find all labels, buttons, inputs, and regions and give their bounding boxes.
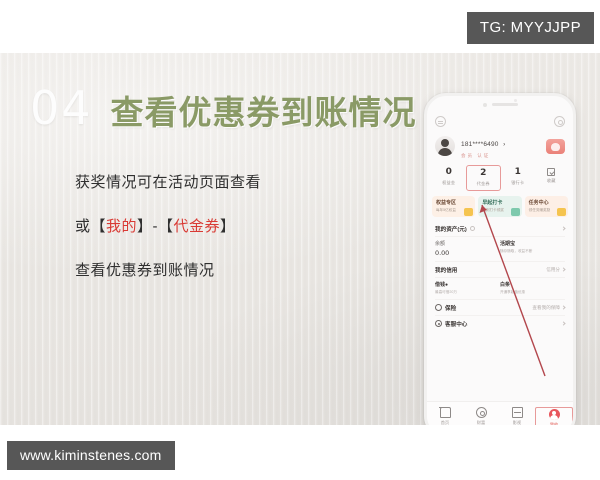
quick-card-morning-checkin[interactable]: 早起打卡 立刻打卡领奖 — [478, 196, 521, 217]
stat-value: 1 — [501, 168, 535, 178]
credit-pair-row: 借钱● 最高可借20万 白条 开通享超值优惠 — [435, 278, 565, 300]
quick-cards-row: 权益专区 每年5亿权益 早起打卡 立刻打卡领奖 任务中心 领任务赚奖励 — [427, 195, 573, 221]
borrow-label-text: 借钱 — [435, 282, 445, 288]
profile-icon — [549, 409, 560, 420]
step-number: 04 — [30, 85, 93, 131]
insurance-left: 保险 — [435, 304, 456, 312]
balance-value: 0.00 — [435, 249, 500, 257]
member-badge-icon[interactable] — [546, 139, 565, 154]
body-line-2-prefix: 或【 — [75, 218, 106, 235]
stat-label: 代金券 — [467, 181, 501, 187]
nav-item-video[interactable]: 影视 — [499, 407, 535, 425]
stat-item-bankcard[interactable]: 1 银行卡 — [501, 165, 535, 191]
credit-score-label: 信用分 — [546, 267, 560, 273]
quick-card-task-center[interactable]: 任务中心 领任务赚奖励 — [525, 196, 568, 217]
headline: 04 查看优惠券到账情况 — [30, 85, 417, 131]
quick-card-title: 权益专区 — [436, 199, 472, 206]
stat-item-voucher[interactable]: 2 代金券 — [466, 165, 502, 191]
profile-text: 181****6490 › 会员 认证 — [461, 133, 540, 159]
credit-header-left: 我的信用 — [435, 266, 457, 274]
borrow-label: 借钱● — [435, 281, 500, 288]
service-center-title: 客服中心 — [445, 320, 467, 328]
quick-card-equity-zone[interactable]: 权益专区 每年5亿权益 — [432, 196, 475, 217]
body-line-2-mid: 】-【 — [137, 218, 174, 235]
info-icon[interactable] — [470, 226, 475, 231]
screenshot-root: TG: MYYJJPP www.kiminstenes.com 04 查看优惠券… — [0, 0, 600, 480]
insurance-right-label: 查看我的保障 — [532, 305, 560, 311]
nav-label: 影视 — [499, 420, 535, 425]
body-line-2-highlight-mine: 我的 — [106, 218, 137, 235]
body-line-1: 获奖情况可在活动页面查看 — [75, 175, 261, 190]
quick-card-title: 早起打卡 — [482, 199, 518, 206]
credit-header-row[interactable]: 我的信用 信用分 — [435, 262, 565, 278]
tg-handle-badge: TG: MYYJJPP — [467, 12, 594, 44]
stat-item-equity[interactable]: 0 权益金 — [432, 165, 466, 191]
app-topbar — [427, 113, 573, 130]
insurance-right: 查看我的保障 — [532, 305, 565, 311]
stats-row: 0 权益金 2 代金券 1 银行卡 收藏 — [427, 161, 573, 195]
assets-pair-row: 余额 0.00 活期宝 随存随取，收益不断 — [435, 237, 565, 262]
headset-icon — [435, 320, 442, 327]
credit-header-right: 信用分 — [546, 267, 565, 273]
current-treasure-label: 活期宝 — [500, 240, 565, 247]
credit-borrow-cell[interactable]: 借钱● 最高可借20万 — [435, 281, 500, 295]
assets-title: 我的资产(元) — [435, 225, 467, 233]
borrow-sub: 最高可借20万 — [435, 290, 500, 295]
stat-label: 权益金 — [432, 180, 466, 186]
assets-header-row[interactable]: 我的资产(元) — [435, 221, 565, 237]
profile-phone-number: 181****6490 — [461, 141, 499, 148]
chevron-right-icon — [561, 227, 565, 231]
account-list: 我的资产(元) 余额 0.00 活期宝 随存随取，收益不断 — [427, 221, 573, 331]
nav-label: 财富 — [463, 420, 499, 425]
service-center-left: 客服中心 — [435, 320, 467, 328]
nav-item-profile[interactable]: 我的 — [535, 407, 573, 425]
credit-title: 我的信用 — [435, 266, 457, 274]
chevron-right-icon — [561, 306, 565, 310]
credit-baitiao-cell[interactable]: 白条 开通享超值优惠 — [500, 281, 565, 295]
phone-notch — [427, 96, 573, 113]
earpiece-speaker — [492, 103, 518, 106]
baitiao-sub: 开通享超值优惠 — [500, 290, 565, 295]
stat-value: 2 — [467, 169, 501, 179]
avatar[interactable] — [435, 136, 455, 156]
crown-icon — [464, 208, 473, 216]
front-camera-icon — [483, 103, 487, 107]
insurance-title: 保险 — [445, 304, 456, 312]
shield-icon — [435, 304, 442, 311]
phone-mockup: 181****6490 › 会员 认证 0 权益金 2 代金券 1 银行卡 — [424, 93, 576, 425]
clock-icon — [511, 208, 520, 216]
stat-item-favorites[interactable]: 收藏 — [535, 165, 569, 191]
message-icon[interactable] — [435, 116, 446, 127]
gift-icon — [557, 208, 566, 216]
chevron-right-icon: › — [503, 141, 505, 148]
body-text-block: 获奖情况可在活动页面查看 或【我的】-【代金券】 查看优惠券到账情况 — [75, 175, 261, 278]
insurance-row[interactable]: 保险 查看我的保障 — [435, 300, 565, 316]
chevron-right-icon — [561, 268, 565, 272]
quick-card-title: 任务中心 — [529, 199, 565, 206]
body-line-3: 查看优惠券到账情况 — [75, 263, 261, 278]
home-icon — [440, 407, 451, 418]
slide-canvas: 04 查看优惠券到账情况 获奖情况可在活动页面查看 或【我的】-【代金券】 查看… — [0, 53, 600, 425]
assets-current-treasure-cell[interactable]: 活期宝 随存随取，收益不断 — [500, 240, 565, 257]
bookmark-icon — [547, 168, 555, 176]
video-icon — [512, 407, 523, 418]
profile-tags: 会员 认证 — [461, 153, 540, 159]
gear-icon[interactable] — [554, 116, 565, 127]
sensor-dot-icon — [514, 99, 517, 102]
stat-label: 银行卡 — [501, 180, 535, 186]
assets-header-left: 我的资产(元) — [435, 225, 475, 233]
wealth-icon — [476, 407, 487, 418]
site-url-badge: www.kiminstenes.com — [7, 441, 175, 470]
stat-value: 0 — [432, 168, 466, 178]
service-center-row[interactable]: 客服中心 — [435, 316, 565, 331]
body-line-2: 或【我的】-【代金券】 — [75, 219, 261, 234]
chevron-right-icon — [561, 322, 565, 326]
stat-label: 收藏 — [535, 178, 569, 184]
borrow-dot-icon: ● — [445, 282, 448, 288]
baitiao-label: 白条 — [500, 281, 565, 288]
headline-text: 查看优惠券到账情况 — [111, 96, 417, 129]
bottom-nav: 首页 财富 影视 我的 — [427, 401, 573, 425]
nav-item-wealth[interactable]: 财富 — [463, 407, 499, 425]
body-line-2-highlight-voucher: 代金券 — [174, 218, 221, 235]
balance-label: 余额 — [435, 240, 500, 247]
nav-item-home[interactable]: 首页 — [427, 407, 463, 425]
profile-header[interactable]: 181****6490 › 会员 认证 — [427, 130, 573, 161]
body-line-2-suffix: 】 — [220, 218, 236, 235]
current-treasure-sub: 随存随取，收益不断 — [500, 249, 565, 254]
nav-label: 我的 — [536, 422, 572, 425]
assets-balance-cell[interactable]: 余额 0.00 — [435, 240, 500, 257]
nav-label: 首页 — [427, 420, 463, 425]
